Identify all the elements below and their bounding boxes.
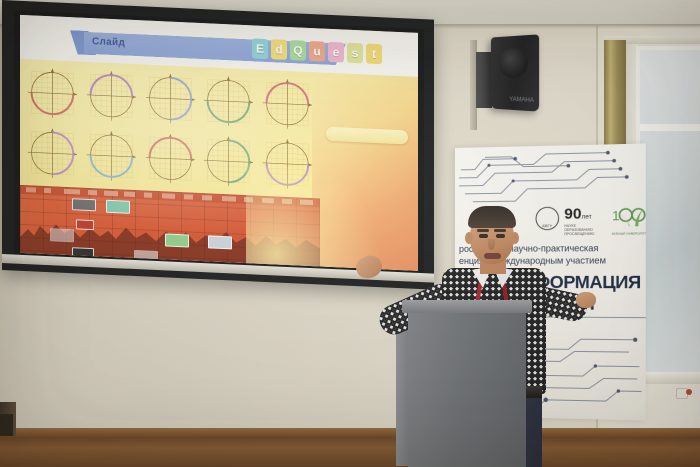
logo-letter-tile-0: E xyxy=(252,38,268,59)
window-glass xyxy=(640,50,700,380)
game-tile xyxy=(208,235,232,249)
svg-text:1: 1 xyxy=(612,208,620,224)
speaker-cone-icon xyxy=(499,47,528,78)
game-tile xyxy=(50,228,74,242)
presenter-ear-left xyxy=(465,232,473,244)
game-tile xyxy=(165,233,189,247)
presenter-eye-left xyxy=(479,234,488,238)
presenter-hair xyxy=(468,206,516,228)
unit-circle-diagram xyxy=(24,63,81,124)
logo-letter-tile-5: s xyxy=(347,43,363,64)
unit-circle-diagram xyxy=(259,74,316,135)
unit-circle-diagram xyxy=(83,126,140,187)
slide-content: Слайд EdQuest xyxy=(20,15,418,271)
baseboard xyxy=(0,428,700,438)
unit-circle-diagram xyxy=(142,68,199,129)
logo-letter-tile-2: Q xyxy=(290,40,306,61)
presenter-nose xyxy=(488,239,495,250)
window-mullion xyxy=(640,124,700,131)
presenter-mouth xyxy=(484,253,501,259)
podium-top-surface xyxy=(402,300,532,313)
unit-circle-diagram xyxy=(142,128,199,189)
presenter-eye-right xyxy=(496,234,505,238)
logo-letter-tile-6: t xyxy=(366,44,382,65)
speaker-bracket xyxy=(476,52,492,108)
game-tile xyxy=(72,198,96,211)
eco-logo-caption: ЗЕЛЕНЫЙ УНИВЕРСИТЕТ xyxy=(610,232,646,236)
unit-circle-diagram xyxy=(83,66,140,127)
presenter-right-hand xyxy=(576,292,596,308)
logo-letter-tile-3: u xyxy=(309,41,325,62)
podium xyxy=(408,304,526,467)
eco-logo-icon: 1 xyxy=(612,203,646,234)
unit-circle-diagram xyxy=(200,71,257,132)
socket-indicator-icon xyxy=(686,389,692,395)
presenter-eyebrow-right xyxy=(494,229,506,232)
slide-title: Слайд xyxy=(92,36,125,49)
logo-letter-tile-1: d xyxy=(271,39,287,60)
screen-surface: Слайд EdQuest xyxy=(20,15,418,271)
projection-screen: Слайд EdQuest xyxy=(2,0,434,290)
logo-letter-tile-4: e xyxy=(328,42,344,63)
presentation-photo-scene: Слайд EdQuest xyxy=(0,0,700,467)
game-tile xyxy=(76,219,94,230)
anniversary-unit: лет xyxy=(582,214,592,220)
presenter-eyebrow-left xyxy=(477,229,489,232)
wall-speaker: YAMAHA xyxy=(491,34,539,111)
game-tile xyxy=(106,200,130,214)
floor-front xyxy=(0,447,700,467)
floor-object-shadow xyxy=(0,414,13,436)
speaker-brand-label: YAMAHA xyxy=(509,97,534,104)
presenter-ear-right xyxy=(511,232,519,244)
unit-circle-diagram xyxy=(24,123,81,184)
